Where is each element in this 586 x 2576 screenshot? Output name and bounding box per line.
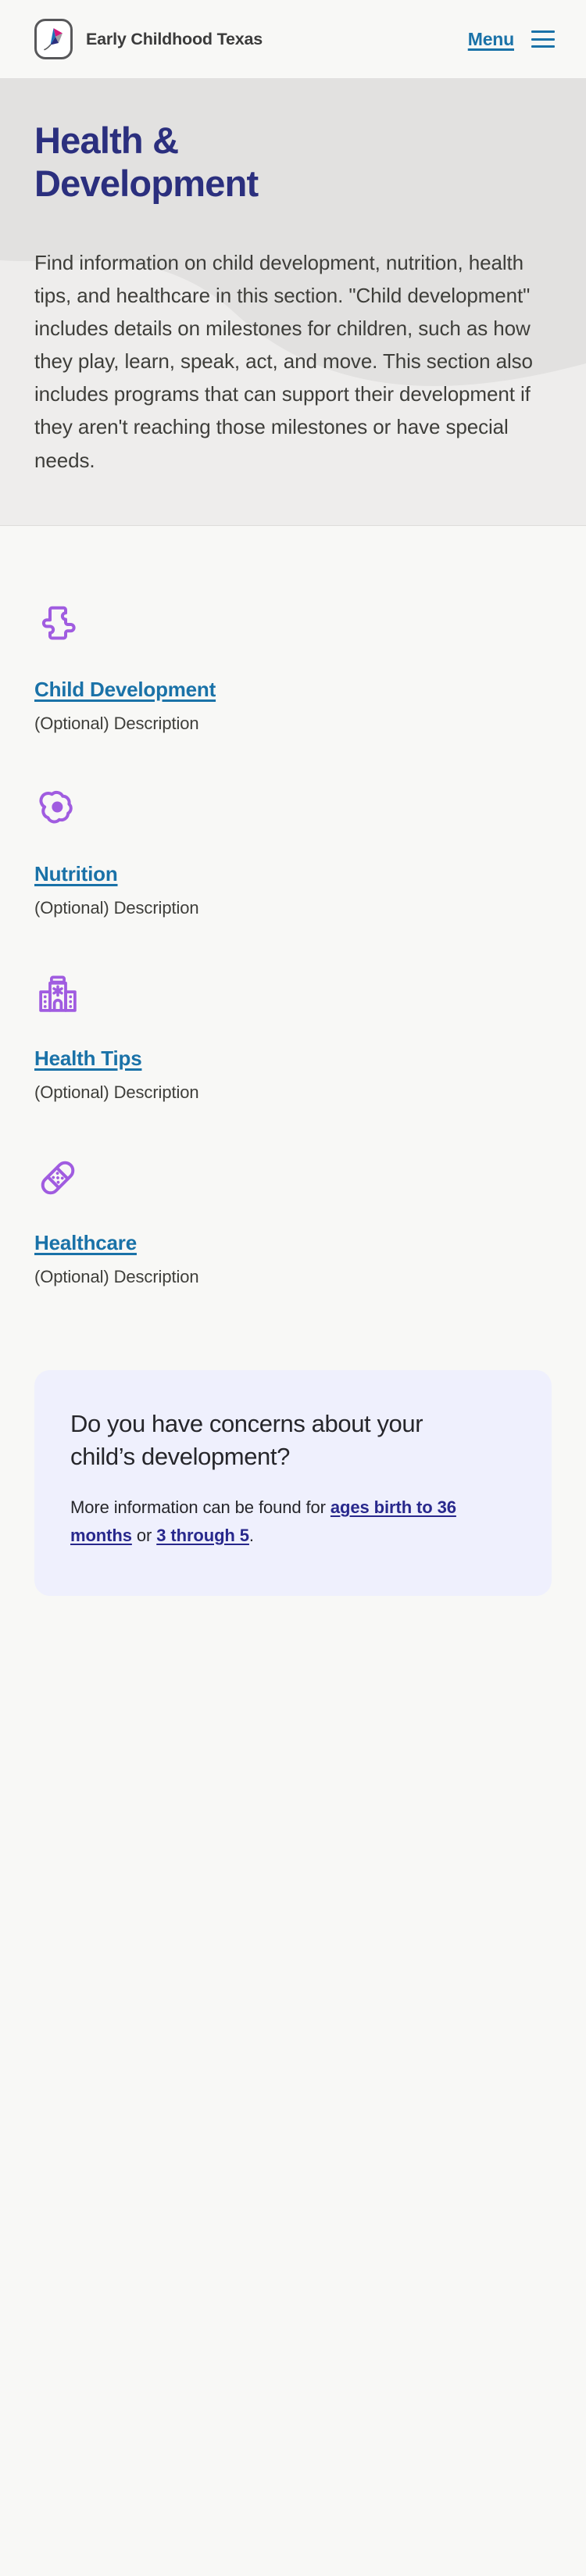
list-item: Nutrition (Optional) Description — [34, 785, 552, 918]
hamburger-line-2 — [531, 38, 555, 41]
list-item: Health Tips (Optional) Description — [34, 970, 552, 1103]
list-item: Healthcare (Optional) Description — [34, 1154, 552, 1287]
card-link-nutrition[interactable]: Nutrition — [34, 862, 118, 886]
callout-text-prefix: More information can be found for — [70, 1497, 331, 1517]
hamburger-menu-icon[interactable] — [531, 30, 555, 48]
card-description: (Optional) Description — [34, 1267, 552, 1287]
callout-section: Do you have concerns about your child’s … — [0, 1339, 586, 1675]
brand-link[interactable]: Early Childhood Texas — [34, 19, 263, 59]
hospital-building-icon — [34, 970, 81, 1017]
callout-body: More information can be found for ages b… — [70, 1494, 508, 1549]
card-link-health-tips[interactable]: Health Tips — [34, 1046, 141, 1071]
hero-content: Health & Development Find information on… — [0, 78, 586, 525]
site-header: Early Childhood Texas Menu — [0, 0, 586, 78]
hero-section: Health & Development Find information on… — [0, 78, 586, 525]
list-item: Child Development (Optional) Description — [34, 601, 552, 734]
puzzle-piece-icon — [34, 601, 81, 648]
hamburger-line-1 — [531, 30, 555, 33]
page-title: Health & Development — [34, 119, 363, 206]
bandage-icon — [34, 1154, 81, 1201]
kite-logo-icon — [34, 19, 73, 59]
card-description: (Optional) Description — [34, 1082, 552, 1103]
callout-text-middle: or — [132, 1526, 156, 1545]
header-actions: Menu — [468, 29, 555, 50]
fried-egg-icon — [34, 785, 81, 832]
hamburger-line-3 — [531, 45, 555, 48]
callout-title: Do you have concerns about your child’s … — [70, 1408, 461, 1473]
card-description: (Optional) Description — [34, 714, 552, 734]
callout-text-suffix: . — [249, 1526, 254, 1545]
callout-link-3-through-5[interactable]: 3 through 5 — [156, 1526, 249, 1545]
card-link-child-development[interactable]: Child Development — [34, 678, 216, 702]
menu-button[interactable]: Menu — [468, 29, 514, 50]
hero-description: Find information on child development, n… — [34, 246, 534, 477]
brand-name: Early Childhood Texas — [86, 30, 263, 49]
card-description: (Optional) Description — [34, 898, 552, 918]
concerns-callout: Do you have concerns about your child’s … — [34, 1370, 552, 1597]
link-card-list: Child Development (Optional) Description… — [0, 526, 586, 1287]
card-link-healthcare[interactable]: Healthcare — [34, 1231, 137, 1255]
